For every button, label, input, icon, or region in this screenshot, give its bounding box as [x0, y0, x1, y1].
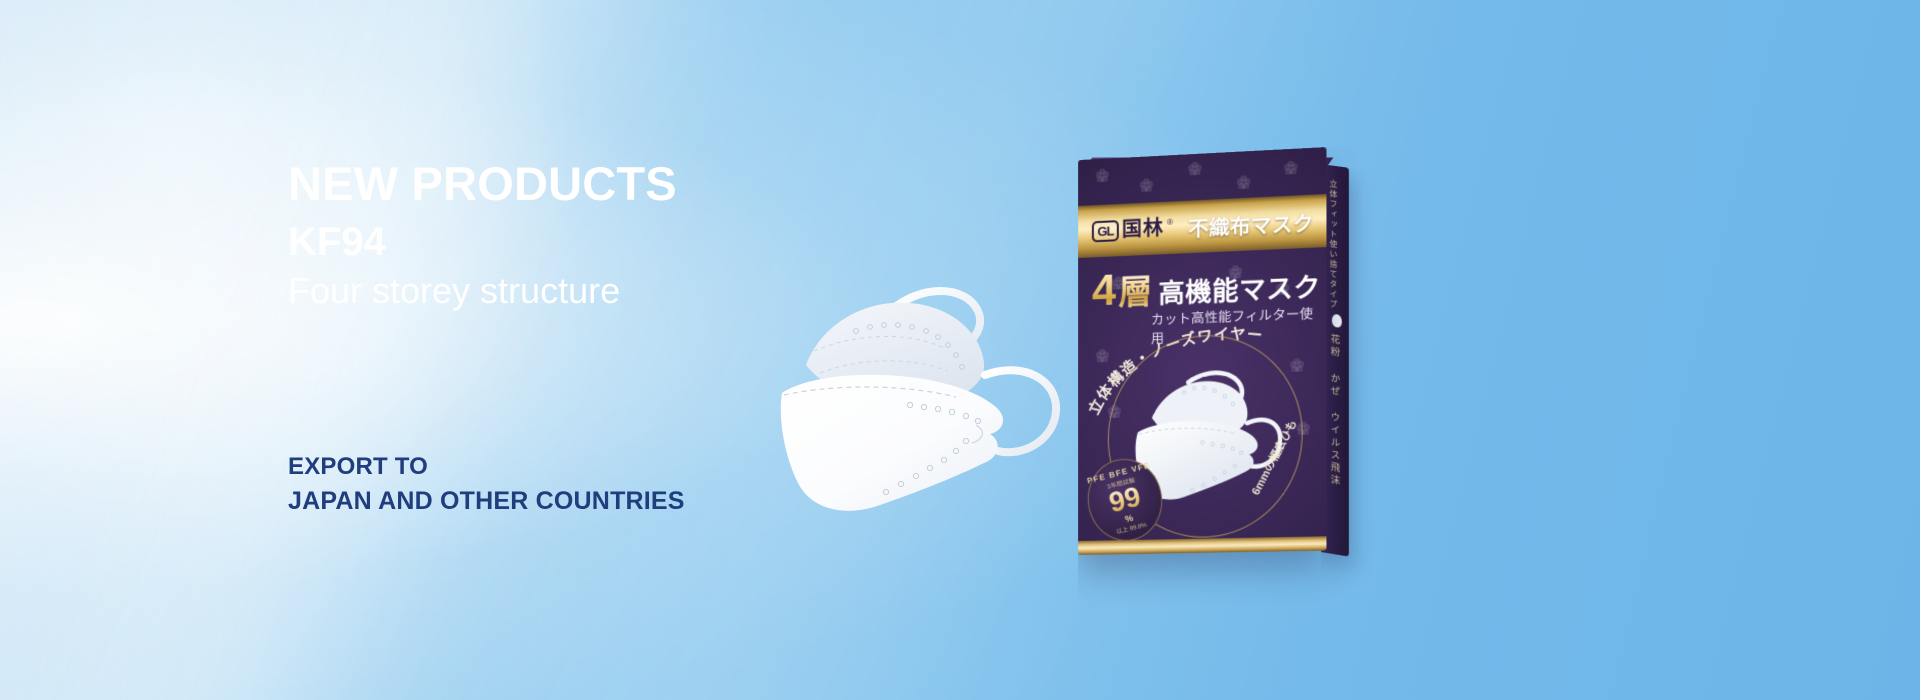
side-panel-text-top: 立体フィット使い捨てタイプ — [1329, 179, 1337, 310]
product-package-box: 立体フィット使い捨てタイプ 花粉 かぜ ウイルス飛沫 — [1078, 160, 1323, 555]
side-panel-text-bottom: 花粉 かぜ ウイルス飛沫 — [1329, 333, 1338, 488]
brand-name-cn: 国林 — [1122, 217, 1164, 240]
box-headline-jp: 高機能マスク — [1158, 274, 1320, 307]
export-statement: EXPORT TO JAPAN AND OTHER COUNTRIES — [288, 450, 685, 520]
badge-percentage-number: 99 — [1106, 482, 1143, 517]
gl-monogram: GL — [1092, 220, 1119, 242]
brand-gold-band: GL 国林 ® 不織布マスク — [1078, 194, 1326, 258]
product-type-label: 不織布マスク — [1188, 206, 1314, 241]
product-promo-banner: NEW PRODUCTS KF94 Four storey structure … — [0, 0, 1920, 700]
brand-logo: GL 国林 ® — [1092, 217, 1173, 242]
product-model-label: KF94 — [288, 222, 386, 262]
export-line-2: JAPAN AND OTHER COUNTRIES — [288, 484, 685, 520]
kf94-mask-illustration — [770, 245, 1070, 545]
product-tagline: Four storey structure — [288, 272, 620, 310]
box-front-face: GL 国林 ® 不織布マスク 4 層 高機能マスク カット高性能フィルター使用 … — [1078, 147, 1326, 555]
badge-subnote: 以上 99.8% — [1115, 519, 1147, 535]
export-line-1: EXPORT TO — [288, 450, 685, 484]
layer-count-unit: 層 — [1118, 275, 1152, 311]
layer-count-number: 4 — [1092, 268, 1116, 313]
registered-trademark-icon: ® — [1167, 217, 1173, 226]
side-mask-icon — [1332, 314, 1342, 328]
mask-svg — [770, 245, 1070, 545]
page-title: NEW PRODUCTS — [288, 160, 677, 207]
